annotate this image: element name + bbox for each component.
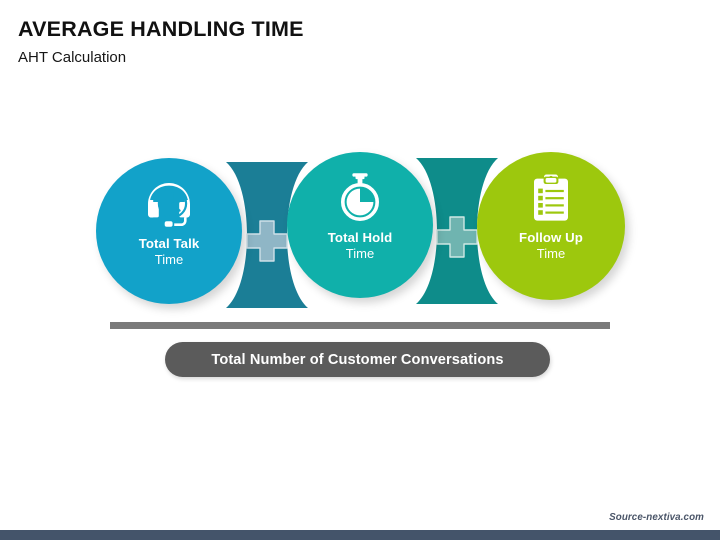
node-label-line1: Follow Up <box>519 230 583 246</box>
footer-bar <box>0 530 720 540</box>
slide-canvas: AVERAGE HANDLING TIME AHT Calculation <box>0 0 720 540</box>
node-label: Follow Up Time <box>519 230 583 261</box>
page-subtitle: AHT Calculation <box>18 49 126 66</box>
node-label-line2: Time <box>519 246 583 261</box>
denominator-pill[interactable]: Total Number of Customer Conversations <box>165 342 550 377</box>
node-total-hold-time[interactable]: Total Hold Time <box>287 152 433 298</box>
node-label-line2: Time <box>139 252 200 267</box>
node-label-line2: Time <box>328 246 392 261</box>
node-label: Total Hold Time <box>328 230 392 261</box>
node-label: Total Talk Time <box>139 236 200 267</box>
node-label-line1: Total Talk <box>139 236 200 252</box>
headset-clock-icon <box>143 178 195 230</box>
stopwatch-icon <box>334 172 386 224</box>
fraction-divider <box>110 322 610 329</box>
node-label-line1: Total Hold <box>328 230 392 246</box>
clipboard-checklist-icon <box>525 172 577 224</box>
denominator-label: Total Number of Customer Conversations <box>211 352 503 368</box>
node-total-talk-time[interactable]: Total Talk Time <box>96 158 242 304</box>
page-title: AVERAGE HANDLING TIME <box>18 17 304 42</box>
node-follow-up-time[interactable]: Follow Up Time <box>477 152 625 300</box>
source-credit: Source-nextiva.com <box>609 512 704 523</box>
